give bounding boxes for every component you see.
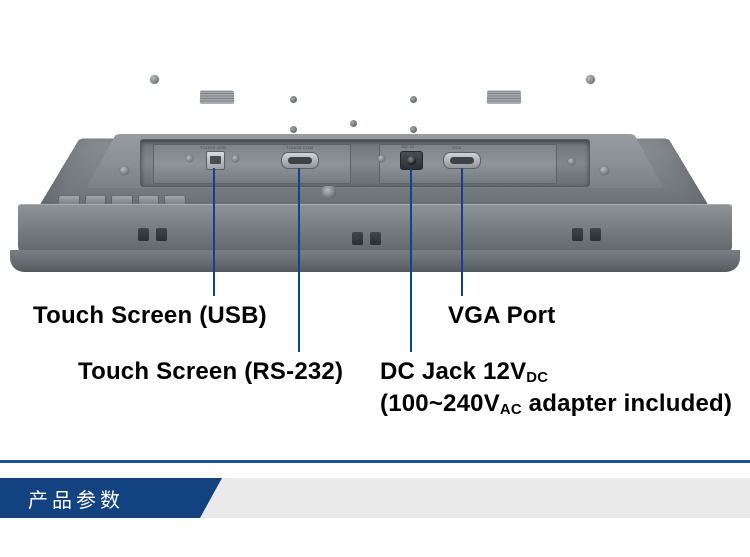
vent-grille-right [487,91,521,104]
bezel-mount-pad [156,228,167,241]
dc-port-caption: DC IN [402,144,414,149]
bezel-mount-pad [138,228,149,241]
callout-leader-rs232 [298,168,300,352]
bezel-mount-pad [370,232,381,245]
vesa-hole [290,126,297,133]
vesa-hole [410,96,417,103]
vga-port-caption: VGA [452,145,461,150]
dc-adapter-suffix: adapter included) [522,390,732,417]
rs232-port-caption: TOUCH COM [286,145,313,150]
usb-type-b-port [206,151,225,170]
section-banner-accent [200,478,222,518]
callout-label-touch-rs232: Touch Screen (RS-232) [78,358,343,386]
product-photo: TOUCH USB TOUCH COM DC IN VGA [0,0,750,290]
bezel-mount-pad [572,228,583,241]
vent-grille-left [200,91,234,104]
callout-label-vga-port: VGA Port [448,302,555,330]
io-screw [232,155,239,162]
callout-leader-vga [461,168,463,296]
bezel-mount-pad [590,228,601,241]
callout-label-dc-jack: DC Jack 12VDC [380,358,548,386]
section-banner-title: 产品参数 [28,484,124,513]
section-divider [0,460,750,463]
rs232-db9-port [281,152,319,169]
chassis-screw [586,75,595,84]
callout-leader-dc [410,168,412,352]
callout-leader-usb [213,168,215,296]
vesa-hole [290,96,297,103]
callout-label-touch-usb: Touch Screen (USB) [33,302,267,330]
chassis-screw [150,75,159,84]
io-subpanel-touch [153,144,351,184]
dc-jack-main-text: DC Jack 12V [380,358,526,385]
dc-jack-subscript: DC [526,370,548,386]
vga-db15-port [443,152,481,169]
bezel-mount-pad [352,232,363,245]
vesa-hole-center [350,120,357,127]
section-banner-bar: 产品参数 [0,478,200,518]
section-banner: 产品参数 [0,478,750,518]
ground-screw [322,186,336,198]
io-screw [186,155,193,162]
dc-adapter-prefix: (100~240V [380,390,500,417]
section-banner-filler [200,478,750,518]
callout-label-dc-adapter: (100~240VAC adapter included) [380,390,732,418]
vesa-hole [410,126,417,133]
page-root: TOUCH USB TOUCH COM DC IN VGA [0,0,750,557]
dc-adapter-subscript: AC [500,402,522,418]
io-screw [378,155,385,162]
chassis-screw [600,166,609,175]
footer-spacer [0,518,750,557]
chassis-screw [120,166,129,175]
monitor-bezel-bottom-edge [10,250,740,272]
monitor-bezel-face [18,204,732,256]
io-screw [568,158,575,165]
usb-port-caption: TOUCH USB [200,145,226,150]
